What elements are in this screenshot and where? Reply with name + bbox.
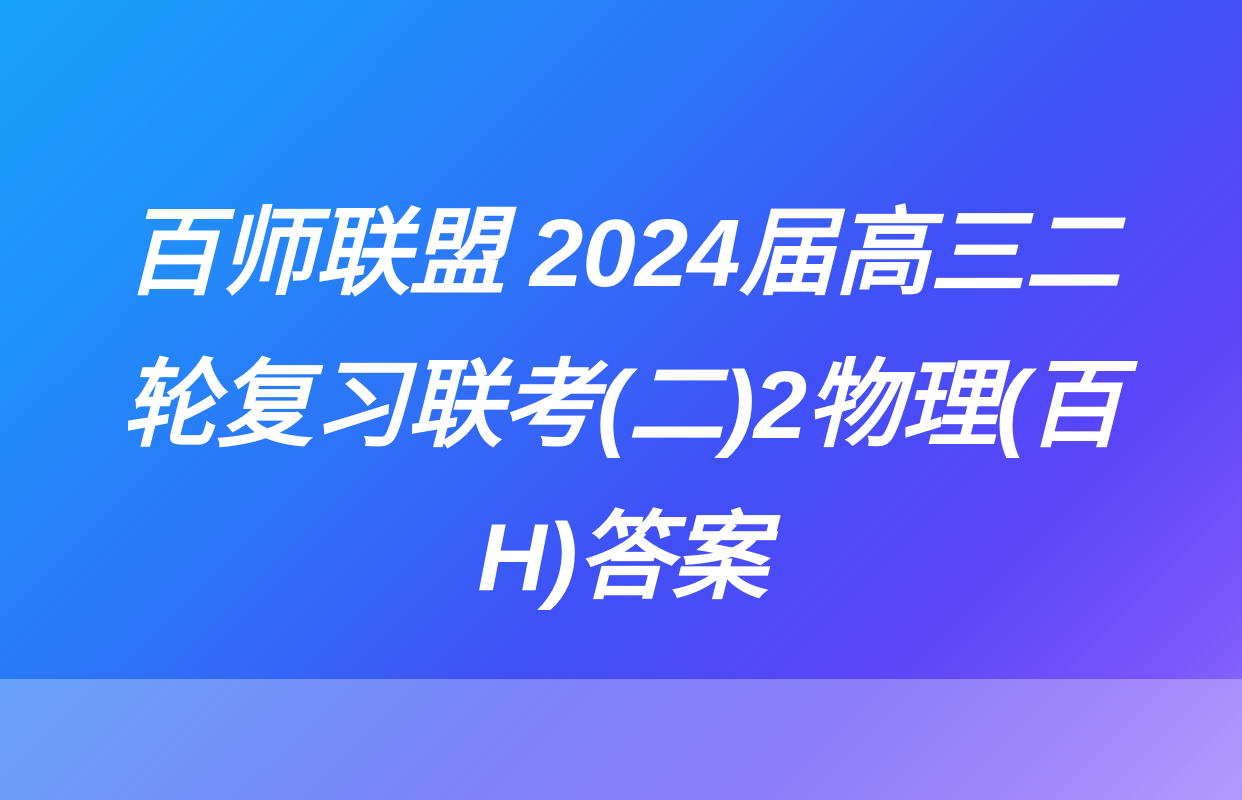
page-title: 百师联盟 2024届高三二轮复习联考(二)2物理(百H)答案: [78, 178, 1166, 634]
answer-card-banner: 百师联盟 2024届高三二轮复习联考(二)2物理(百H)答案 答案解析网APP: [0, 0, 1242, 800]
watermark-band: 答案解析网APP: [0, 679, 1242, 800]
